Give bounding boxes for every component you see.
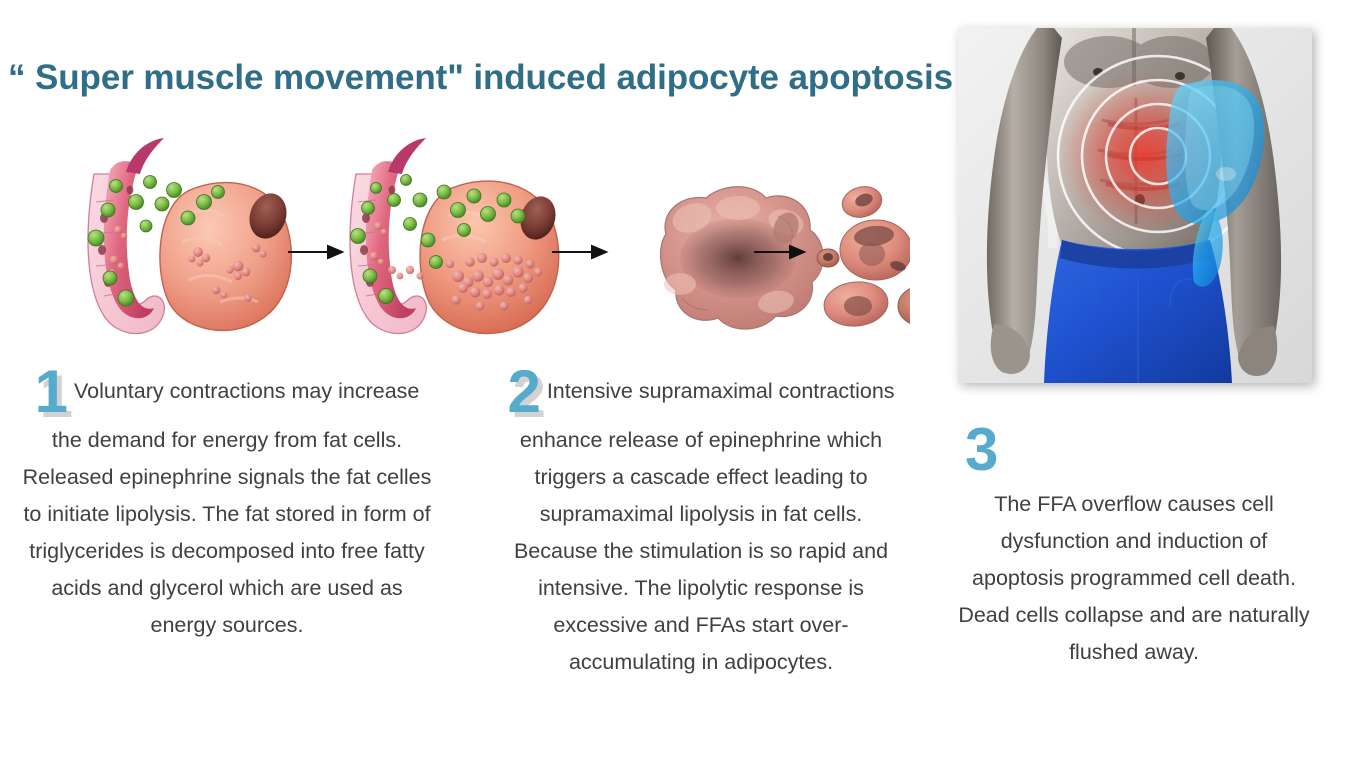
step-three-numeral: 3	[965, 420, 1313, 480]
step-one-numeral: 1	[35, 362, 68, 422]
stage-2-lipolysis	[350, 138, 561, 334]
torso-treatment-photo	[958, 28, 1312, 383]
stage-1-capillary-adipocyte	[88, 138, 292, 334]
step-two-paragraph: 2Intensive supramaximal contractions enh…	[495, 362, 907, 681]
step-one-text: Voluntary contractions may increase the …	[23, 379, 432, 637]
adipocyte-apoptosis-illustration	[70, 130, 910, 365]
arrow-1	[288, 246, 342, 258]
step-three-text: The FFA overflow causes cell dysfunction…	[955, 486, 1313, 671]
step-one-column: 1Voluntary contractions may increase the…	[22, 362, 432, 644]
step-two-column: 2Intensive supramaximal contractions enh…	[495, 362, 907, 681]
step-three-column: 3 The FFA overflow causes cell dysfuncti…	[955, 420, 1313, 671]
page-title: “ Super muscle movement" induced adipocy…	[8, 56, 948, 100]
stage-4-apoptotic-bodies	[817, 183, 910, 330]
step-one-paragraph: 1Voluntary contractions may increase the…	[22, 362, 432, 644]
stage-3-dying-cell	[661, 187, 823, 329]
arrow-2	[552, 246, 606, 258]
step-two-text: Intensive supramaximal contractions enha…	[514, 379, 895, 674]
step-two-numeral: 2	[507, 362, 540, 422]
